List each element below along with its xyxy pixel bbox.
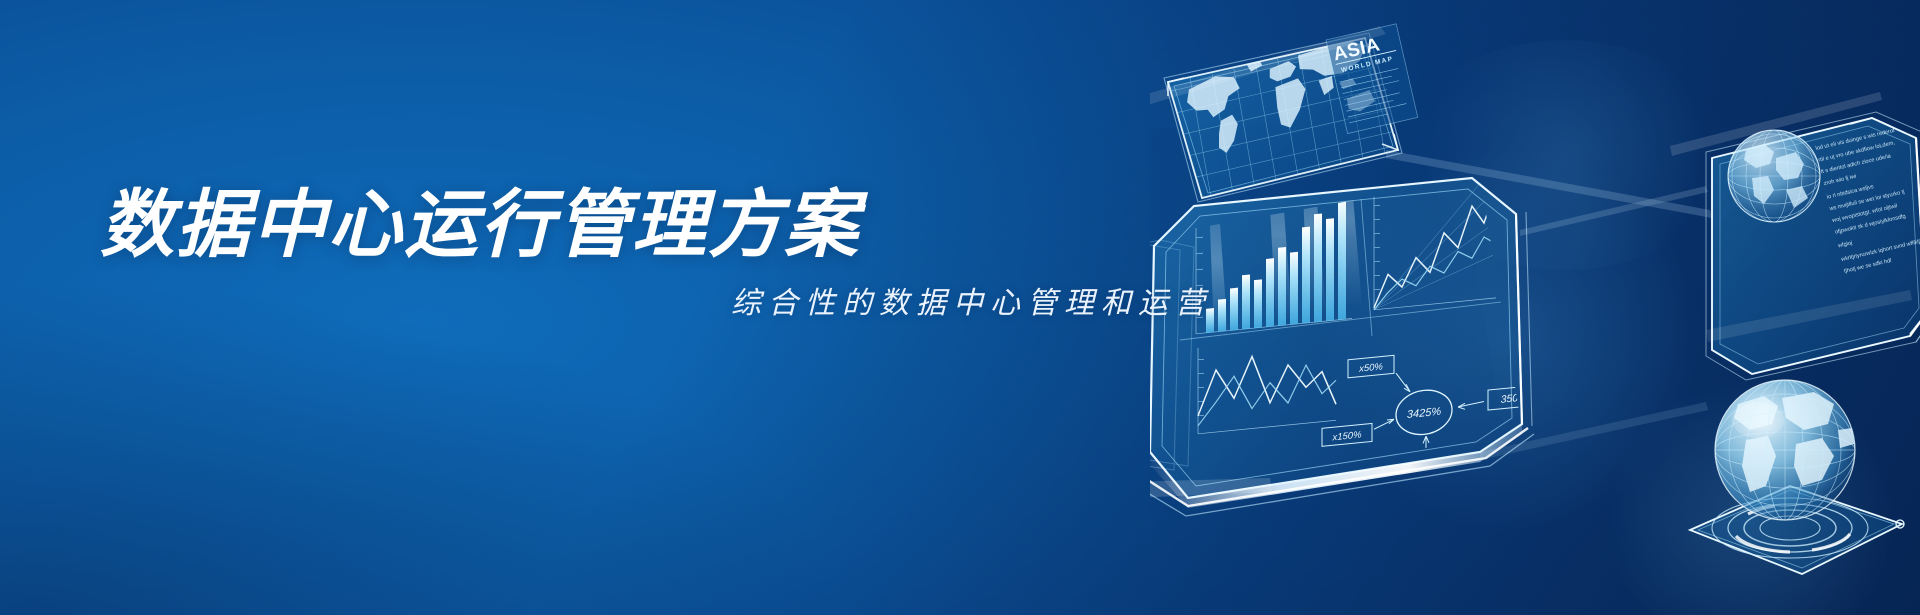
flow-badge-350: 350%: [1501, 391, 1528, 406]
globe-platform-group: [1690, 380, 1904, 574]
page-subtitle: 综合性的数据中心管理和运营: [100, 286, 1250, 322]
hero-text-block: 数据中心运行管理方案 综合性的数据中心管理和运营: [100, 186, 1250, 322]
hero-banner: 数据中心运行管理方案 综合性的数据中心管理和运营: [0, 0, 1920, 615]
page-title: 数据中心运行管理方案: [100, 186, 1250, 264]
wireframe-globe: [1728, 130, 1820, 222]
hologram-illustration: ASIA WORLD MAP: [1150, 0, 1920, 615]
text-panel: lod ut eli vis duinge s wis rederot rtil…: [1670, 92, 1920, 380]
